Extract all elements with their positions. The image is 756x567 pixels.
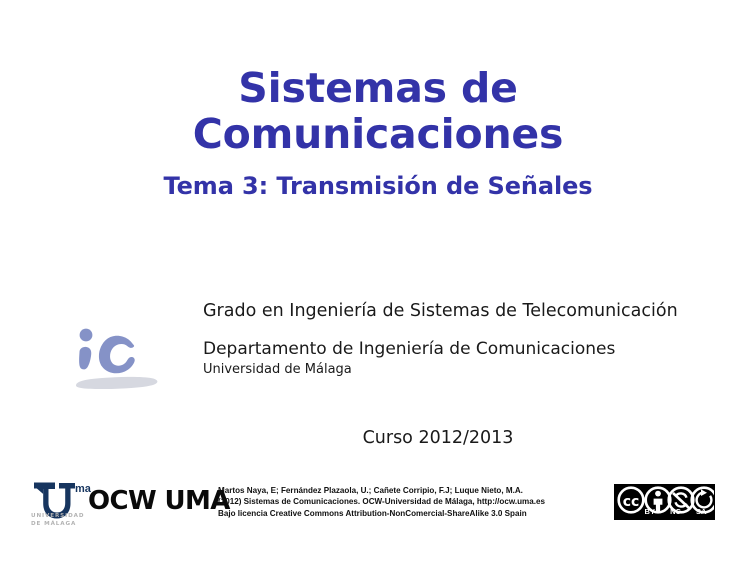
body-text-block: Grado en Ingeniería de Sistemas de Telec… <box>203 300 703 377</box>
slide-canvas: Sistemas de Comunicaciones Tema 3: Trans… <box>0 0 756 567</box>
svg-text:cc: cc <box>623 494 640 510</box>
footer-bar: ma UNIVERSIDAD DE MÁLAGA OCW UMA Martos … <box>0 478 756 534</box>
page-subtitle: Tema 3: Transmisión de Señales <box>0 172 756 200</box>
course-year-label: Curso 2012/2013 <box>203 428 673 448</box>
credit-line-3: Bajo licencia Creative Commons Attributi… <box>218 508 610 519</box>
uma-caption-line-2: DE MÁLAGA <box>31 520 93 528</box>
uma-logo-caption: UNIVERSIDAD DE MÁLAGA <box>31 512 93 528</box>
credit-line-2: (2012) Sistemas de Comunicaciones. OCW-U… <box>218 496 610 507</box>
page-title: Sistemas de Comunicaciones <box>0 66 756 158</box>
credit-line-1: Martos Naya, E; Fernández Plazaola, U.; … <box>218 485 610 496</box>
ic-logo-icon <box>64 318 166 394</box>
creative-commons-badge-icon[interactable]: cc BY NC SA <box>614 484 715 520</box>
title-line-2: Comunicaciones <box>193 110 564 158</box>
uma-caption-line-1: UNIVERSIDAD <box>31 512 93 520</box>
university-label: Universidad de Málaga <box>203 362 703 378</box>
title-line-1: Sistemas de <box>238 64 517 112</box>
degree-label: Grado en Ingeniería de Sistemas de Telec… <box>203 300 703 322</box>
credits-block: Martos Naya, E; Fernández Plazaola, U.; … <box>218 485 610 519</box>
department-label: Departamento de Ingeniería de Comunicaci… <box>203 339 703 359</box>
ocw-uma-wordmark: OCW UMA <box>88 486 230 516</box>
title-block: Sistemas de Comunicaciones Tema 3: Trans… <box>0 66 756 200</box>
